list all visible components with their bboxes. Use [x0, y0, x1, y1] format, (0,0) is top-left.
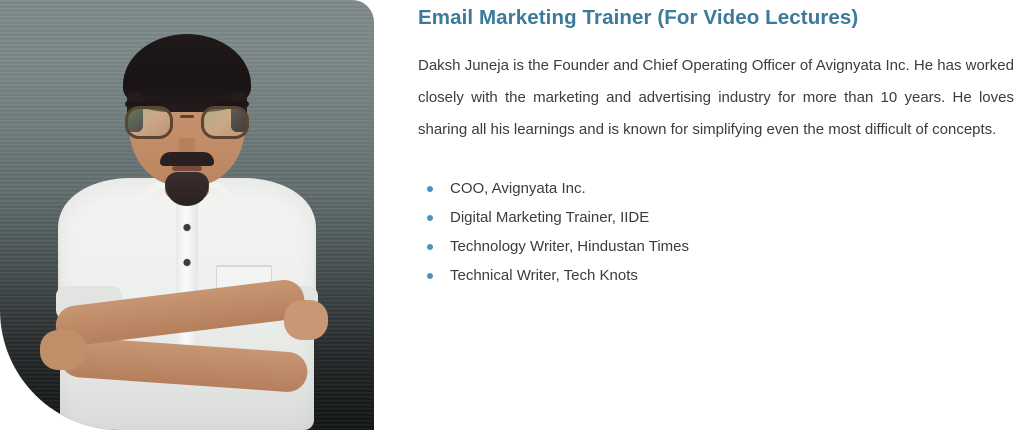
trainer-bio-paragraph: Daksh Juneja is the Founder and Chief Op… — [418, 50, 1014, 146]
moustache — [160, 152, 214, 166]
trainer-photo-column — [0, 0, 374, 430]
eyeglass-lens-right — [201, 106, 249, 139]
hand-left — [40, 330, 86, 370]
trainer-text-column: Email Marketing Trainer (For Video Lectu… — [374, 0, 1024, 430]
shirt-button — [184, 224, 191, 231]
list-item: Technical Writer, Tech Knots — [426, 261, 1014, 290]
credential-label: Technology Writer, Hindustan Times — [450, 238, 689, 255]
bullet-dot-icon — [427, 215, 433, 221]
mouth — [172, 166, 202, 171]
trainer-figure — [0, 0, 374, 430]
list-item: Digital Marketing Trainer, IIDE — [426, 203, 1014, 232]
credential-label: COO, Avignyata Inc. — [450, 180, 586, 197]
eyeglass-bridge — [180, 115, 194, 118]
bullet-dot-icon — [427, 273, 433, 279]
bullet-dot-icon — [427, 186, 433, 192]
trainer-photo — [0, 0, 374, 430]
trainer-profile-section: Email Marketing Trainer (For Video Lectu… — [0, 0, 1024, 430]
list-item: COO, Avignyata Inc. — [426, 174, 1014, 203]
credential-label: Digital Marketing Trainer, IIDE — [450, 209, 649, 226]
shirt-button — [184, 259, 191, 266]
page-title: Email Marketing Trainer (For Video Lectu… — [418, 0, 1014, 31]
eyeglasses — [125, 106, 249, 140]
credential-label: Technical Writer, Tech Knots — [450, 267, 638, 284]
list-item: Technology Writer, Hindustan Times — [426, 232, 1014, 261]
eyeglass-lens-left — [125, 106, 173, 139]
trainer-credentials-list: COO, Avignyata Inc. Digital Marketing Tr… — [418, 174, 1014, 290]
hand-right — [284, 300, 328, 340]
bullet-dot-icon — [427, 244, 433, 250]
